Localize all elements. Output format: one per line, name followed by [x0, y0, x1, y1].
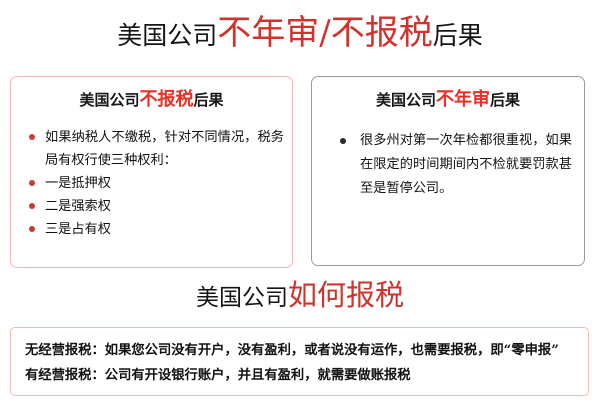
- page-title-highlight: 不年审/不报税: [217, 13, 432, 53]
- left-consequence-card: 美国公司不报税后果 如果纳税人不缴税，针对不同情况，税务局有权行使三种权利： 一…: [10, 76, 293, 268]
- bullet-dot-icon: [29, 180, 35, 186]
- left-card-bullet-list: 如果纳税人不缴税，针对不同情况，税务局有权行使三种权利： 一是抵押权 二是强索权…: [11, 126, 292, 241]
- list-item: 很多州对第一次年检都很重视，如果在限定的时间期间内不检就要罚款甚至是暂停公司。: [340, 129, 572, 201]
- right-card-bullet-list: 很多州对第一次年检都很重视，如果在限定的时间期间内不检就要罚款甚至是暂停公司。: [312, 129, 584, 201]
- list-item: 三是占有权: [29, 218, 284, 241]
- list-item-text: 如果纳税人不缴税，针对不同情况，税务局有权行使三种权利：: [45, 130, 284, 168]
- filing-methods-card: 无经营报税：如果您公司没有开户，没有盈利，或者说没有运作，也需要报税，即“零申报…: [10, 327, 589, 396]
- list-item: 一是抵押权: [29, 172, 284, 195]
- left-card-header: 美国公司不报税后果: [11, 91, 292, 109]
- page-title: 美国公司不年审/不报税后果: [0, 16, 600, 50]
- left-card-header-prefix: 美国公司: [79, 91, 139, 109]
- list-item-text: 二是强索权: [45, 199, 111, 214]
- page-title-prefix: 美国公司: [117, 21, 217, 50]
- left-card-header-suffix: 后果: [194, 91, 224, 109]
- filing-methods-list: 无经营报税：如果您公司没有开户，没有盈利，或者说没有运作，也需要报税，即“零申报…: [11, 328, 588, 388]
- list-item: 如果纳税人不缴税，针对不同情况，税务局有权行使三种权利：: [29, 126, 284, 172]
- bullet-dot-icon: [29, 226, 35, 232]
- bullet-dot-icon: [340, 138, 346, 144]
- bullet-dot-icon: [29, 134, 35, 140]
- filing-method-with-operation: 有经营报税：公司有开设银行账户，并且有盈利，就需要做账报税: [25, 363, 574, 388]
- section-title-prefix: 美国公司: [196, 285, 288, 311]
- section-title-highlight: 如何报税: [288, 278, 404, 312]
- bullet-dot-icon: [29, 203, 35, 209]
- list-item-text: 三是占有权: [45, 222, 111, 237]
- right-card-header-prefix: 美国公司: [376, 91, 436, 109]
- filing-method-no-operation: 无经营报税：如果您公司没有开户，没有盈利，或者说没有运作，也需要报税，即“零申报…: [25, 338, 574, 363]
- section-title-filing: 美国公司如何报税: [0, 281, 600, 310]
- page-title-suffix: 后果: [433, 21, 483, 50]
- right-card-header-suffix: 后果: [490, 91, 520, 109]
- list-item-text: 一是抵押权: [45, 176, 111, 191]
- right-card-header: 美国公司不年审后果: [312, 91, 584, 109]
- list-item: 二是强索权: [29, 195, 284, 218]
- left-card-header-highlight: 不报税: [140, 89, 194, 110]
- list-item-text: 很多州对第一次年检都很重视，如果在限定的时间期间内不检就要罚款甚至是暂停公司。: [360, 133, 572, 196]
- right-consequence-card: 美国公司不年审后果 很多州对第一次年检都很重视，如果在限定的时间期间内不检就要罚…: [311, 76, 585, 266]
- right-card-header-highlight: 不年审: [436, 89, 490, 110]
